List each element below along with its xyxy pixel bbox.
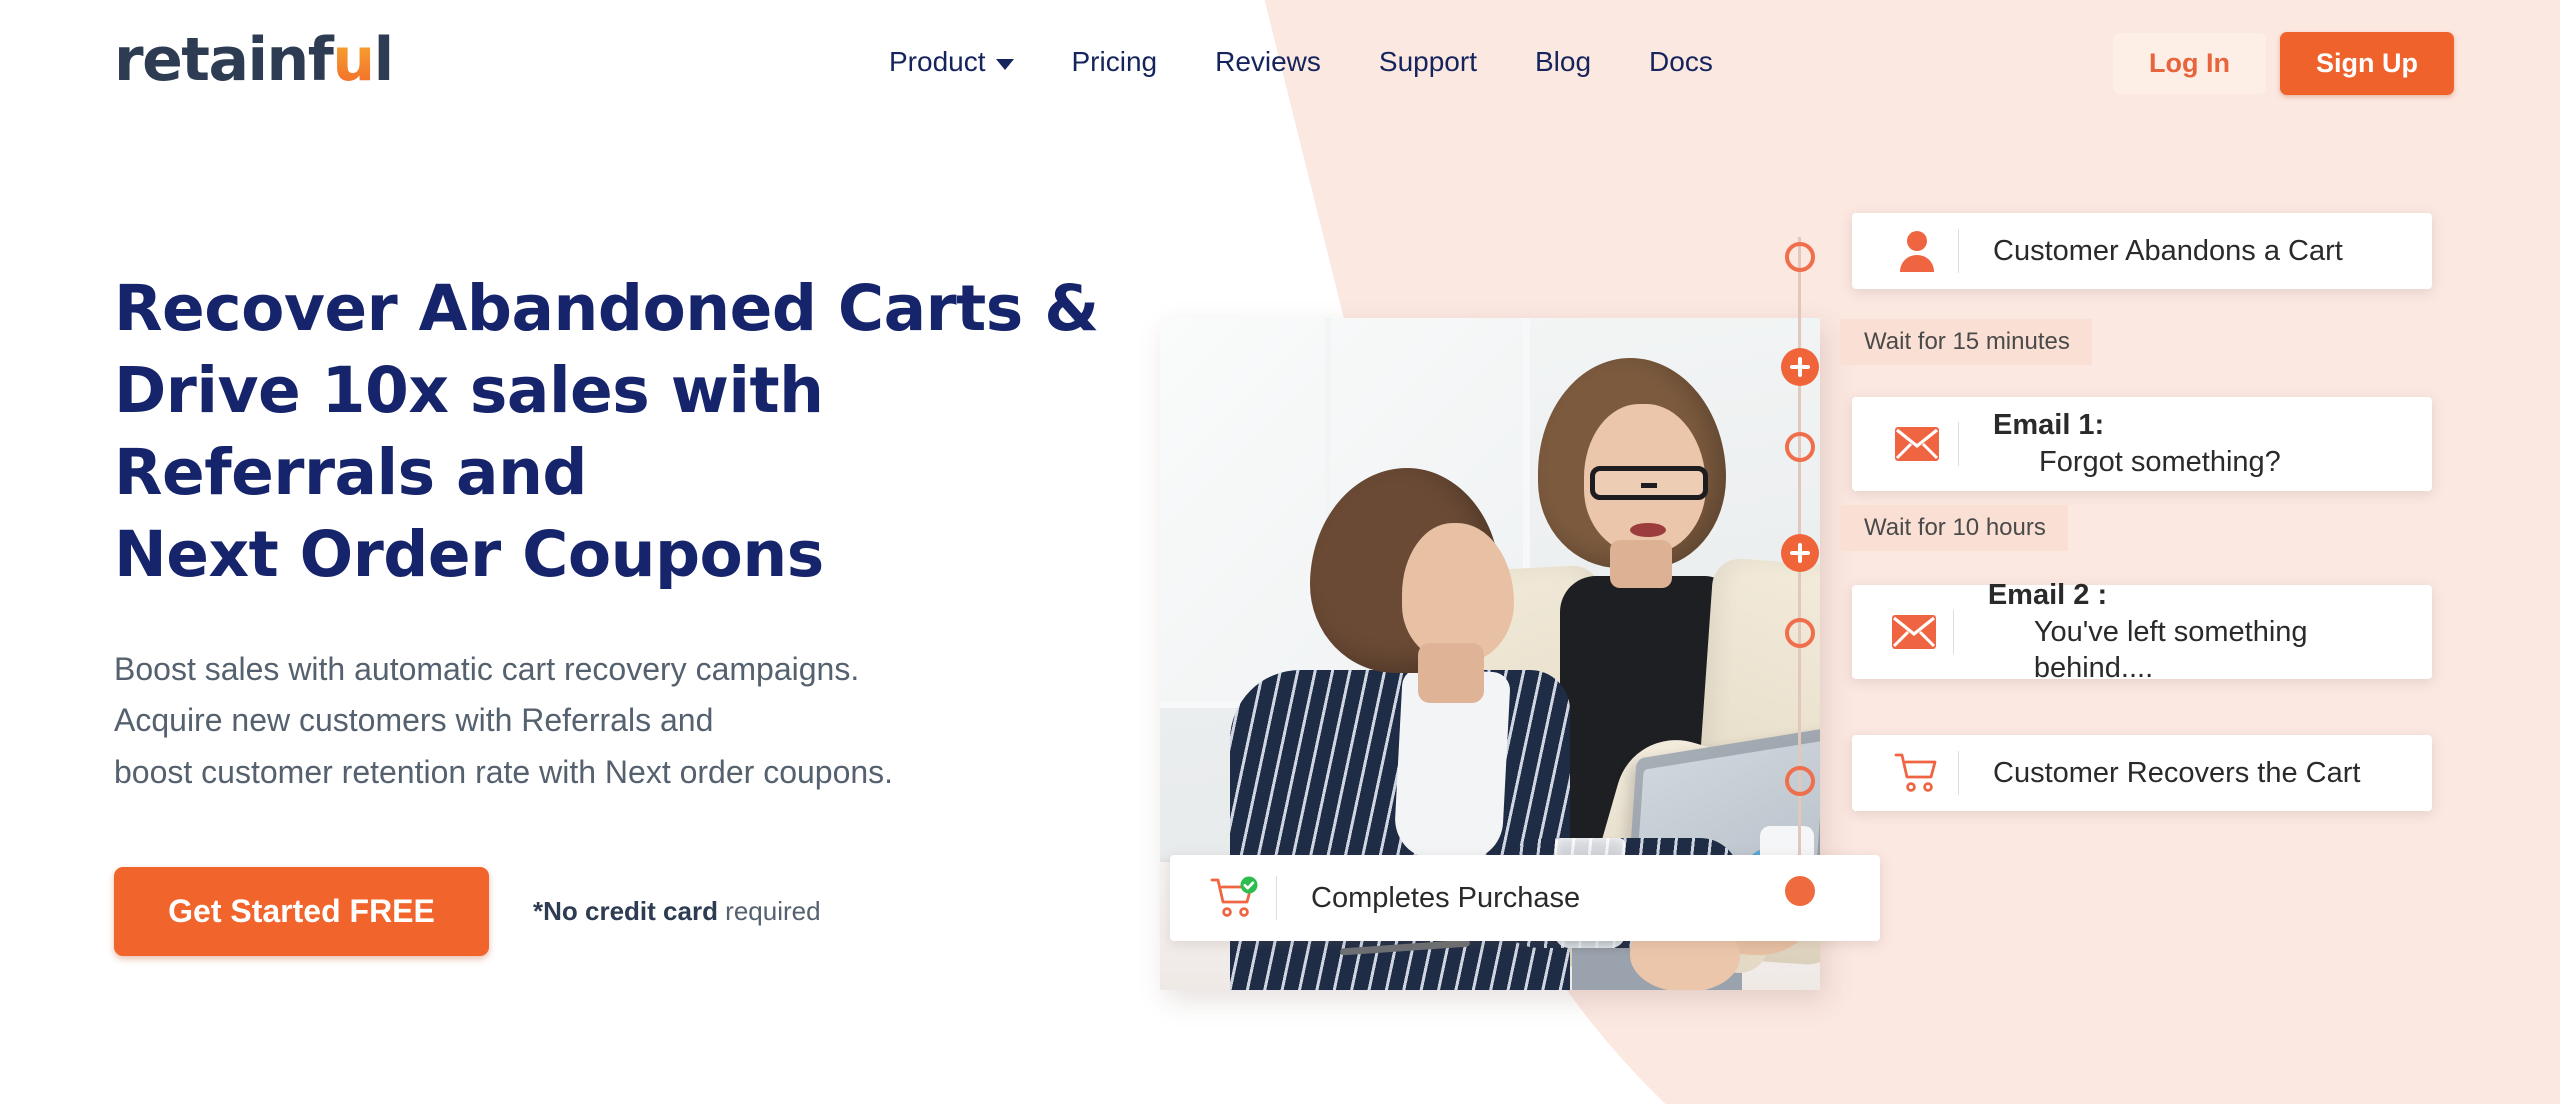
workflow-card-email-1[interactable]: Email 1: Forgot something? [1852,397,2432,491]
brand-logo[interactable]: retainful [114,30,393,90]
card-divider [1958,229,1959,273]
nav-label-blog: Blog [1535,46,1591,78]
timeline-node-wait-1[interactable] [1780,347,1820,387]
card-divider [1958,422,1959,466]
cta-row: Get Started FREE *No credit card require… [114,867,1154,956]
workflow-card-recovers[interactable]: Customer Recovers the Cart [1852,735,2432,811]
workflow-card-recovers-label: Customer Recovers the Cart [1993,755,2360,792]
workflow-card-purchase[interactable]: Completes Purchase [1170,855,1880,941]
nav-item-blog[interactable]: Blog [1506,46,1620,78]
subhead-line-3: boost customer retention rate with Next … [114,747,1154,799]
nav-label-pricing: Pricing [1072,46,1158,78]
workflow-card-email-1-title: Email 1: [1993,407,2281,444]
workflow-card-email-1-subtitle: Forgot something? [2039,444,2281,481]
nav-item-product[interactable]: Product [860,46,1043,78]
nav-item-support[interactable]: Support [1350,46,1506,78]
workflow-wait-2: Wait for 10 hours [1840,505,2068,551]
site-header: retainful Product Pricing Reviews Suppor… [0,0,2560,120]
headline-line-2: Drive 10x sales with [114,350,1154,432]
workflow-card-email-1-text: Email 1: Forgot something? [1993,407,2281,480]
ring-marker-icon [1785,766,1815,796]
subhead-line-1: Boost sales with automatic cart recovery… [114,644,1154,696]
logo-text-tail: l [374,25,393,95]
logo-text-accent: u [332,25,373,95]
cart-icon [1880,752,1954,794]
card-divider [1276,876,1277,920]
photo-person-standing-neck [1610,540,1672,588]
workflow-card-email-2-title: Email 2 : [1988,577,2404,614]
cart-check-icon [1198,876,1272,920]
subhead-line-2: Acquire new customers with Referrals and [114,695,1154,747]
signup-button[interactable]: Sign Up [2280,32,2454,95]
auth-actions: Log In Sign Up [2113,32,2454,95]
timeline-node-abandon [1780,237,1820,277]
plus-marker-icon [1781,348,1819,386]
logo-text-main: retainf [114,25,332,95]
no-credit-card-rest: required [718,896,821,926]
headline-line-4: Next Order Coupons [114,514,1154,596]
hero-copy: Recover Abandoned Carts & Drive 10x sale… [114,268,1154,956]
nav-label-reviews: Reviews [1215,46,1321,78]
card-divider [1953,610,1954,654]
get-started-button[interactable]: Get Started FREE [114,867,489,956]
main-navigation: Product Pricing Reviews Support Blog Doc… [860,46,1742,78]
nav-item-reviews[interactable]: Reviews [1186,46,1350,78]
workflow-card-abandon[interactable]: Customer Abandons a Cart [1852,213,2432,289]
timeline-node-email-2 [1780,613,1820,653]
chevron-down-icon [996,59,1014,70]
hero-subtitle: Boost sales with automatic cart recovery… [114,644,1154,799]
workflow-card-abandon-label: Customer Abandons a Cart [1993,233,2343,270]
nav-item-docs[interactable]: Docs [1620,46,1742,78]
photo-person-seated-neck [1418,643,1484,703]
nav-label-product: Product [889,46,986,78]
card-divider [1958,751,1959,795]
nav-item-pricing[interactable]: Pricing [1043,46,1187,78]
nav-label-support: Support [1379,46,1477,78]
login-button[interactable]: Log In [2113,33,2266,94]
workflow-card-email-2-text: Email 2 : You've left something behind..… [1988,577,2404,687]
ring-marker-icon [1785,432,1815,462]
workflow-card-email-2-subtitle: You've left something behind.... [2034,614,2404,687]
plus-marker-icon [1781,534,1819,572]
headline-line-3: Referrals and [114,432,1154,514]
ring-marker-icon [1785,242,1815,272]
envelope-icon [1880,427,1954,461]
photo-person-standing-glasses [1590,466,1708,500]
user-icon [1880,230,1954,272]
nav-label-docs: Docs [1649,46,1713,78]
workflow-card-purchase-label: Completes Purchase [1311,880,1580,917]
timeline-node-wait-2[interactable] [1780,533,1820,573]
timeline-node-recovers [1780,761,1820,801]
dot-marker-icon [1785,876,1815,906]
headline-line-1: Recover Abandoned Carts & [114,268,1154,350]
photo-person-standing-lips [1630,523,1666,537]
timeline-node-email-1 [1780,427,1820,467]
timeline-node-purchase [1780,871,1820,911]
ring-marker-icon [1785,618,1815,648]
landing-page: retainful Product Pricing Reviews Suppor… [0,0,2560,1104]
workflow-wait-1: Wait for 15 minutes [1840,319,2092,365]
timeline-axis [1798,237,1801,937]
no-credit-card-note: *No credit card required [533,896,821,927]
envelope-icon [1880,615,1949,649]
page-title: Recover Abandoned Carts & Drive 10x sale… [114,268,1154,596]
workflow-card-email-2[interactable]: Email 2 : You've left something behind..… [1852,585,2432,679]
no-credit-card-bold: *No credit card [533,896,718,926]
